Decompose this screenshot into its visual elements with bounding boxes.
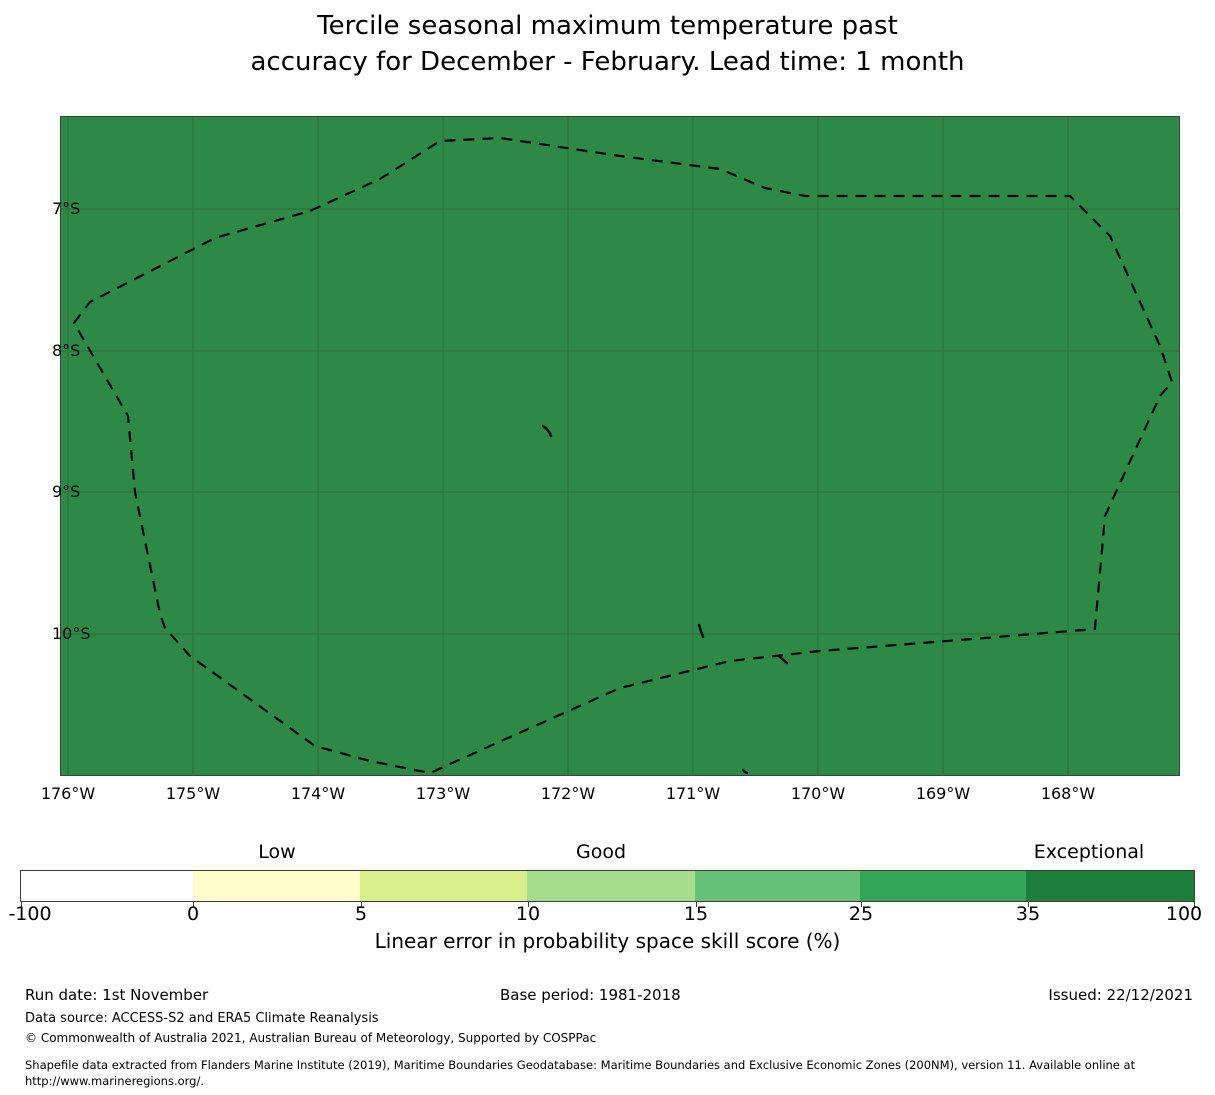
colorbar-tick-label: 0 (187, 902, 199, 926)
x-tick-label: 175°W (166, 784, 220, 804)
map-plot-area[interactable] (60, 116, 1180, 776)
x-tick-label: 176°W (41, 784, 95, 804)
colorbar-segment-15-25[interactable] (695, 871, 860, 901)
y-tick-text: 9°S (52, 482, 80, 502)
footer-data-source: Data source: ACCESS-S2 and ERA5 Climate … (25, 1010, 379, 1028)
colorbar-category-good: Good (576, 840, 626, 864)
map-vector-overlay (60, 116, 1180, 776)
x-tick-label: 168°W (1041, 784, 1095, 804)
page-title: Tercile seasonal maximum temperature pas… (0, 8, 1215, 80)
island-coastlines (543, 426, 787, 773)
y-tick-label: 8°S (52, 341, 80, 361)
colorbar-tick-label: 10 (516, 902, 540, 926)
eez-boundary-polygon (74, 138, 1172, 773)
colorbar-category-exceptional: Exceptional (1034, 840, 1144, 864)
footer-base-period: Base period: 1981-2018 (500, 985, 681, 1005)
colorbar-tick-label: -100 (8, 902, 51, 926)
x-tick-label: 172°W (541, 784, 595, 804)
colorbar-tick-label: 25 (849, 902, 873, 926)
x-tick-label: 171°W (666, 784, 720, 804)
footer-copyright: © Commonwealth of Australia 2021, Austra… (25, 1030, 596, 1047)
y-tick-text: 10°S (52, 624, 91, 644)
y-tick-label: 7°S (52, 199, 80, 219)
y-tick-text: 8°S (52, 341, 80, 361)
footer-issued-date: Issued: 22/12/2021 (1048, 985, 1193, 1005)
colorbar-segment-0-5[interactable] (193, 871, 361, 901)
x-tick-label: 170°W (791, 784, 845, 804)
y-tick-text: 7°S (52, 199, 80, 219)
x-tick-label: 169°W (916, 784, 970, 804)
colorbar-category-low: Low (258, 840, 295, 864)
colorbar-tick-label: 15 (684, 902, 708, 926)
colorbar-segment-35-100[interactable] (1026, 871, 1194, 901)
colorbar-segment-10-15[interactable] (527, 871, 695, 901)
x-tick-label: 174°W (291, 784, 345, 804)
colorbar-axis-label: Linear error in probability space skill … (0, 928, 1215, 954)
y-tick-label: 10°S (52, 624, 91, 644)
colorbar-tick-label: 5 (355, 902, 367, 926)
footer-shapefile-attribution: Shapefile data extracted from Flanders M… (25, 1057, 1195, 1089)
colorbar-segments[interactable] (20, 870, 1195, 902)
x-tick-label: 173°W (416, 784, 470, 804)
footer-run-date: Run date: 1st November (25, 985, 208, 1005)
map-gridlines-horizontal (60, 209, 1180, 634)
y-tick-label: 9°S (52, 482, 80, 502)
colorbar-segment-neg100-0[interactable] (21, 871, 193, 901)
colorbar-segment-25-35[interactable] (860, 871, 1027, 901)
colorbar-tick-label: 35 (1016, 902, 1040, 926)
colorbar[interactable] (20, 870, 1195, 902)
footer: Run date: 1st November Base period: 1981… (0, 985, 1215, 1095)
colorbar-tick-label: 100 (1166, 902, 1202, 926)
colorbar-segment-5-10[interactable] (360, 871, 527, 901)
